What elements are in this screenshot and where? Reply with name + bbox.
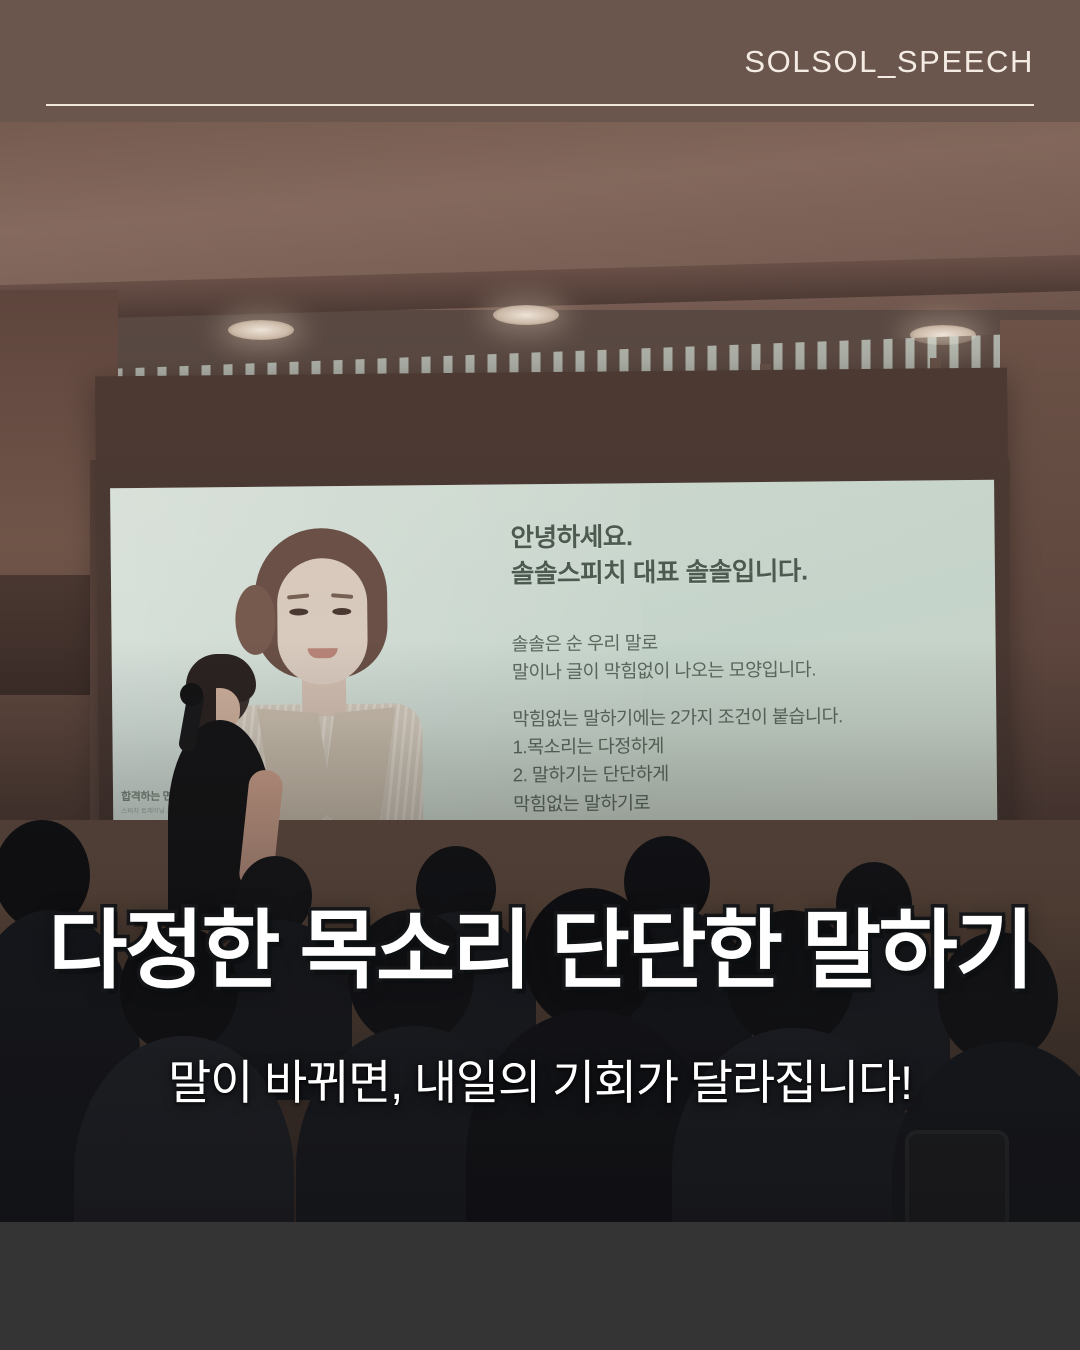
slide-heading: 안녕하세요. 솔솔스피치 대표 솔솔입니다. — [510, 516, 981, 593]
overlay-text-block: 다정한 목소리 단단한 말하기 말이 바뀌면, 내일의 기회가 달라집니다! — [0, 905, 1080, 1113]
card-header: SOLSOL_SPEECH — [0, 0, 1080, 122]
ceiling-downlight — [493, 305, 559, 325]
brand-title: SOLSOL_SPEECH — [744, 44, 1034, 80]
slide-body: 솔솔은 순 우리 말로 말이나 글이 막힘없이 나오는 모양입니다. 막힘없는 … — [511, 626, 991, 846]
social-card: SOLSOL_SPEECH — [0, 0, 1080, 1350]
header-divider — [46, 104, 1034, 106]
folding-chair — [905, 1130, 1001, 1222]
right-wall — [1000, 320, 1080, 900]
portrait-hair-side — [235, 585, 276, 655]
sub-headline: 말이 바뀌면, 내일의 기회가 달라집니다! — [0, 1044, 1080, 1113]
microphone-head — [180, 683, 203, 706]
card-footer — [0, 1222, 1080, 1350]
main-headline: 다정한 목소리 단단한 말하기 — [0, 905, 1080, 998]
chair-backrest — [905, 1130, 1009, 1222]
slide-body-paragraph-1: 솔솔은 순 우리 말로 말이나 글이 막힘없이 나오는 모양입니다. — [511, 626, 990, 687]
ceiling-downlight — [228, 320, 294, 340]
portrait-face — [277, 558, 368, 685]
